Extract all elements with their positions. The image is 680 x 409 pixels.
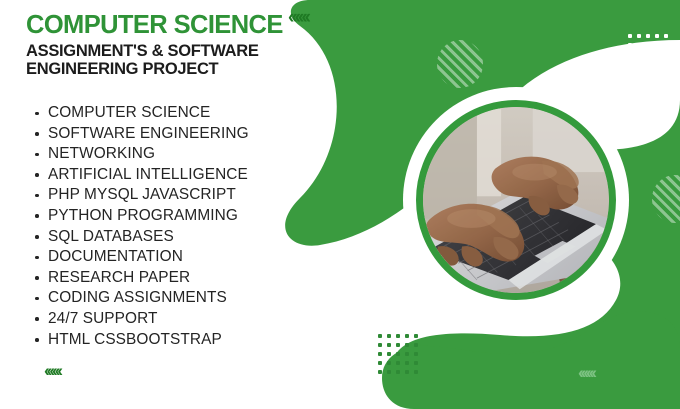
service-banner: ‹‹‹‹‹‹ ‹‹‹‹‹‹ ‹‹‹‹‹‹ [0,0,680,409]
photo-ring [416,100,616,300]
list-item: PHP MYSQL JAVASCRIPT [48,185,348,206]
list-item: NETWORKING [48,144,348,165]
list-item: ARTIFICIAL INTELLIGENCE [48,165,348,186]
list-item: RESEARCH PAPER [48,268,348,289]
chevron-left-icon: ‹‹‹‹‹‹ [578,364,594,381]
list-item: 24/7 SUPPORT [48,309,348,330]
laptop-typing-photo [423,107,609,293]
striped-circle-icon [437,40,483,88]
striped-circle-icon [652,175,680,223]
list-item: SQL DATABASES [48,227,348,248]
services-list: COMPUTER SCIENCESOFTWARE ENGINEERINGNETW… [26,103,348,350]
dot-grid-icon [628,34,668,74]
page-subtitle: ASSIGNMENT'S & SOFTWARE ENGINEERING PROJ… [26,42,296,79]
list-item: SOFTWARE ENGINEERING [48,124,348,145]
photo-circle [407,91,625,309]
subtitle-line-2: ENGINEERING PROJECT [26,60,218,78]
list-item: DOCUMENTATION [48,247,348,268]
chevron-left-icon: ‹‹‹‹‹‹ [44,362,60,379]
list-item: CODING ASSIGNMENTS [48,288,348,309]
list-item: PYTHON PROGRAMMING [48,206,348,227]
list-item: COMPUTER SCIENCE [48,103,348,124]
list-item: HTML CSSBOOTSTRAP [48,330,348,351]
dot-grid-icon [378,334,418,374]
page-title: COMPUTER SCIENCE [26,12,296,38]
headline-block: COMPUTER SCIENCE ASSIGNMENT'S & SOFTWARE… [26,12,296,79]
subtitle-line-1: ASSIGNMENT'S & SOFTWARE [26,42,259,60]
